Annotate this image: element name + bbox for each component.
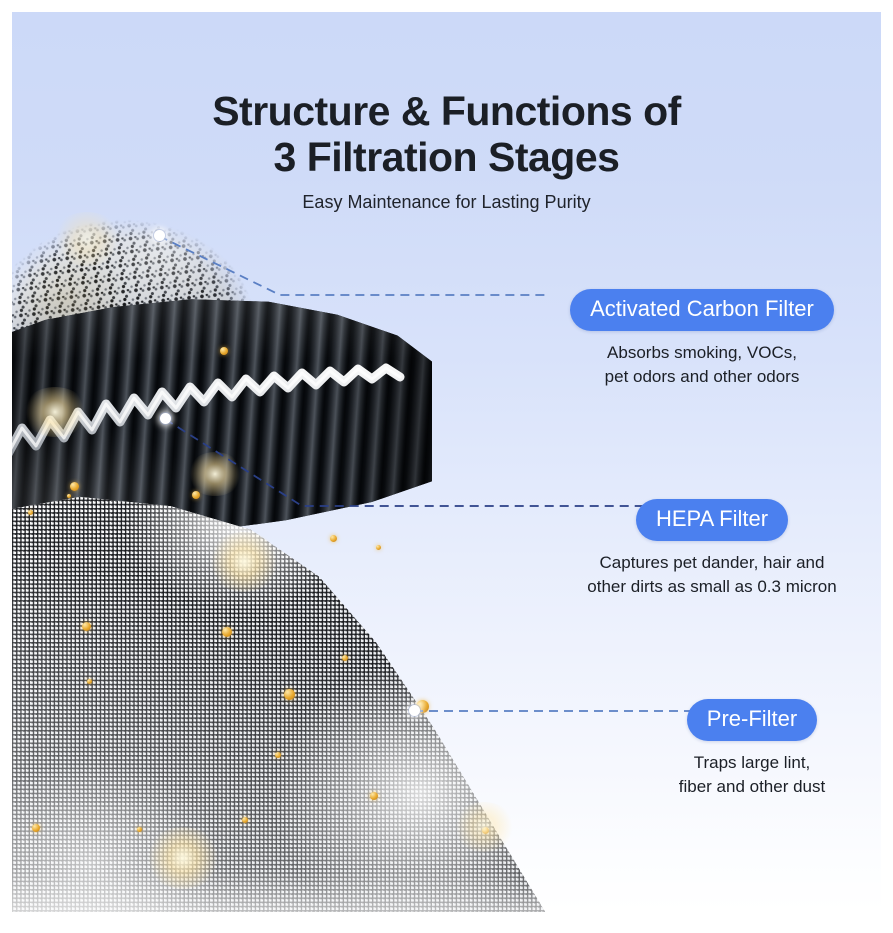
dust-particle xyxy=(32,824,40,832)
light-glint xyxy=(452,802,516,852)
dust-particle xyxy=(220,347,228,355)
infographic-canvas: Structure & Functions of 3 Filtration St… xyxy=(0,0,893,933)
page-subtitle: Easy Maintenance for Lasting Purity xyxy=(12,192,881,213)
gradient-background-panel: Structure & Functions of 3 Filtration St… xyxy=(12,12,881,912)
dust-particle xyxy=(242,817,248,823)
dust-particle xyxy=(376,545,381,550)
dust-particle xyxy=(222,627,232,637)
page-title: Structure & Functions of 3 Filtration St… xyxy=(12,88,881,180)
dust-particle xyxy=(70,482,79,491)
light-glint xyxy=(52,212,122,266)
description-pre-filter: Traps large lint, fiber and other dust xyxy=(632,751,872,799)
hotspot-dot-hepa[interactable] xyxy=(160,413,171,424)
dust-particle xyxy=(275,752,281,758)
title-line-2: 3 Filtration Stages xyxy=(12,134,881,180)
hotspot-dot-activated-carbon[interactable] xyxy=(154,230,165,241)
title-line-1: Structure & Functions of xyxy=(212,88,681,134)
description-hepa: Captures pet dander, hair and other dirt… xyxy=(552,551,872,599)
callout-hepa: HEPA Filter Captures pet dander, hair an… xyxy=(552,499,872,599)
light-glint xyxy=(207,532,281,592)
callout-activated-carbon: Activated Carbon Filter Absorbs smoking,… xyxy=(552,289,852,389)
dust-particle xyxy=(67,494,71,498)
badge-activated-carbon-filter[interactable]: Activated Carbon Filter xyxy=(570,289,834,331)
dust-particle xyxy=(137,827,142,832)
dust-particle xyxy=(28,510,33,515)
description-activated-carbon: Absorbs smoking, VOCs, pet odors and oth… xyxy=(552,341,852,389)
dust-particle xyxy=(330,535,337,542)
dust-particle xyxy=(87,679,92,684)
callout-pre-filter: Pre-Filter Traps large lint, fiber and o… xyxy=(632,699,872,799)
dust-particle xyxy=(82,622,91,631)
light-glint xyxy=(187,452,243,496)
dust-particle xyxy=(370,792,378,800)
badge-hepa-filter[interactable]: HEPA Filter xyxy=(636,499,788,541)
hotspot-dot-pre-filter[interactable] xyxy=(409,705,420,716)
mesh-bottom-fade xyxy=(12,872,580,912)
dust-particle xyxy=(284,689,295,700)
dust-particle xyxy=(342,655,348,661)
badge-pre-filter[interactable]: Pre-Filter xyxy=(687,699,817,741)
light-glint xyxy=(22,387,88,437)
light-glint xyxy=(144,827,222,889)
